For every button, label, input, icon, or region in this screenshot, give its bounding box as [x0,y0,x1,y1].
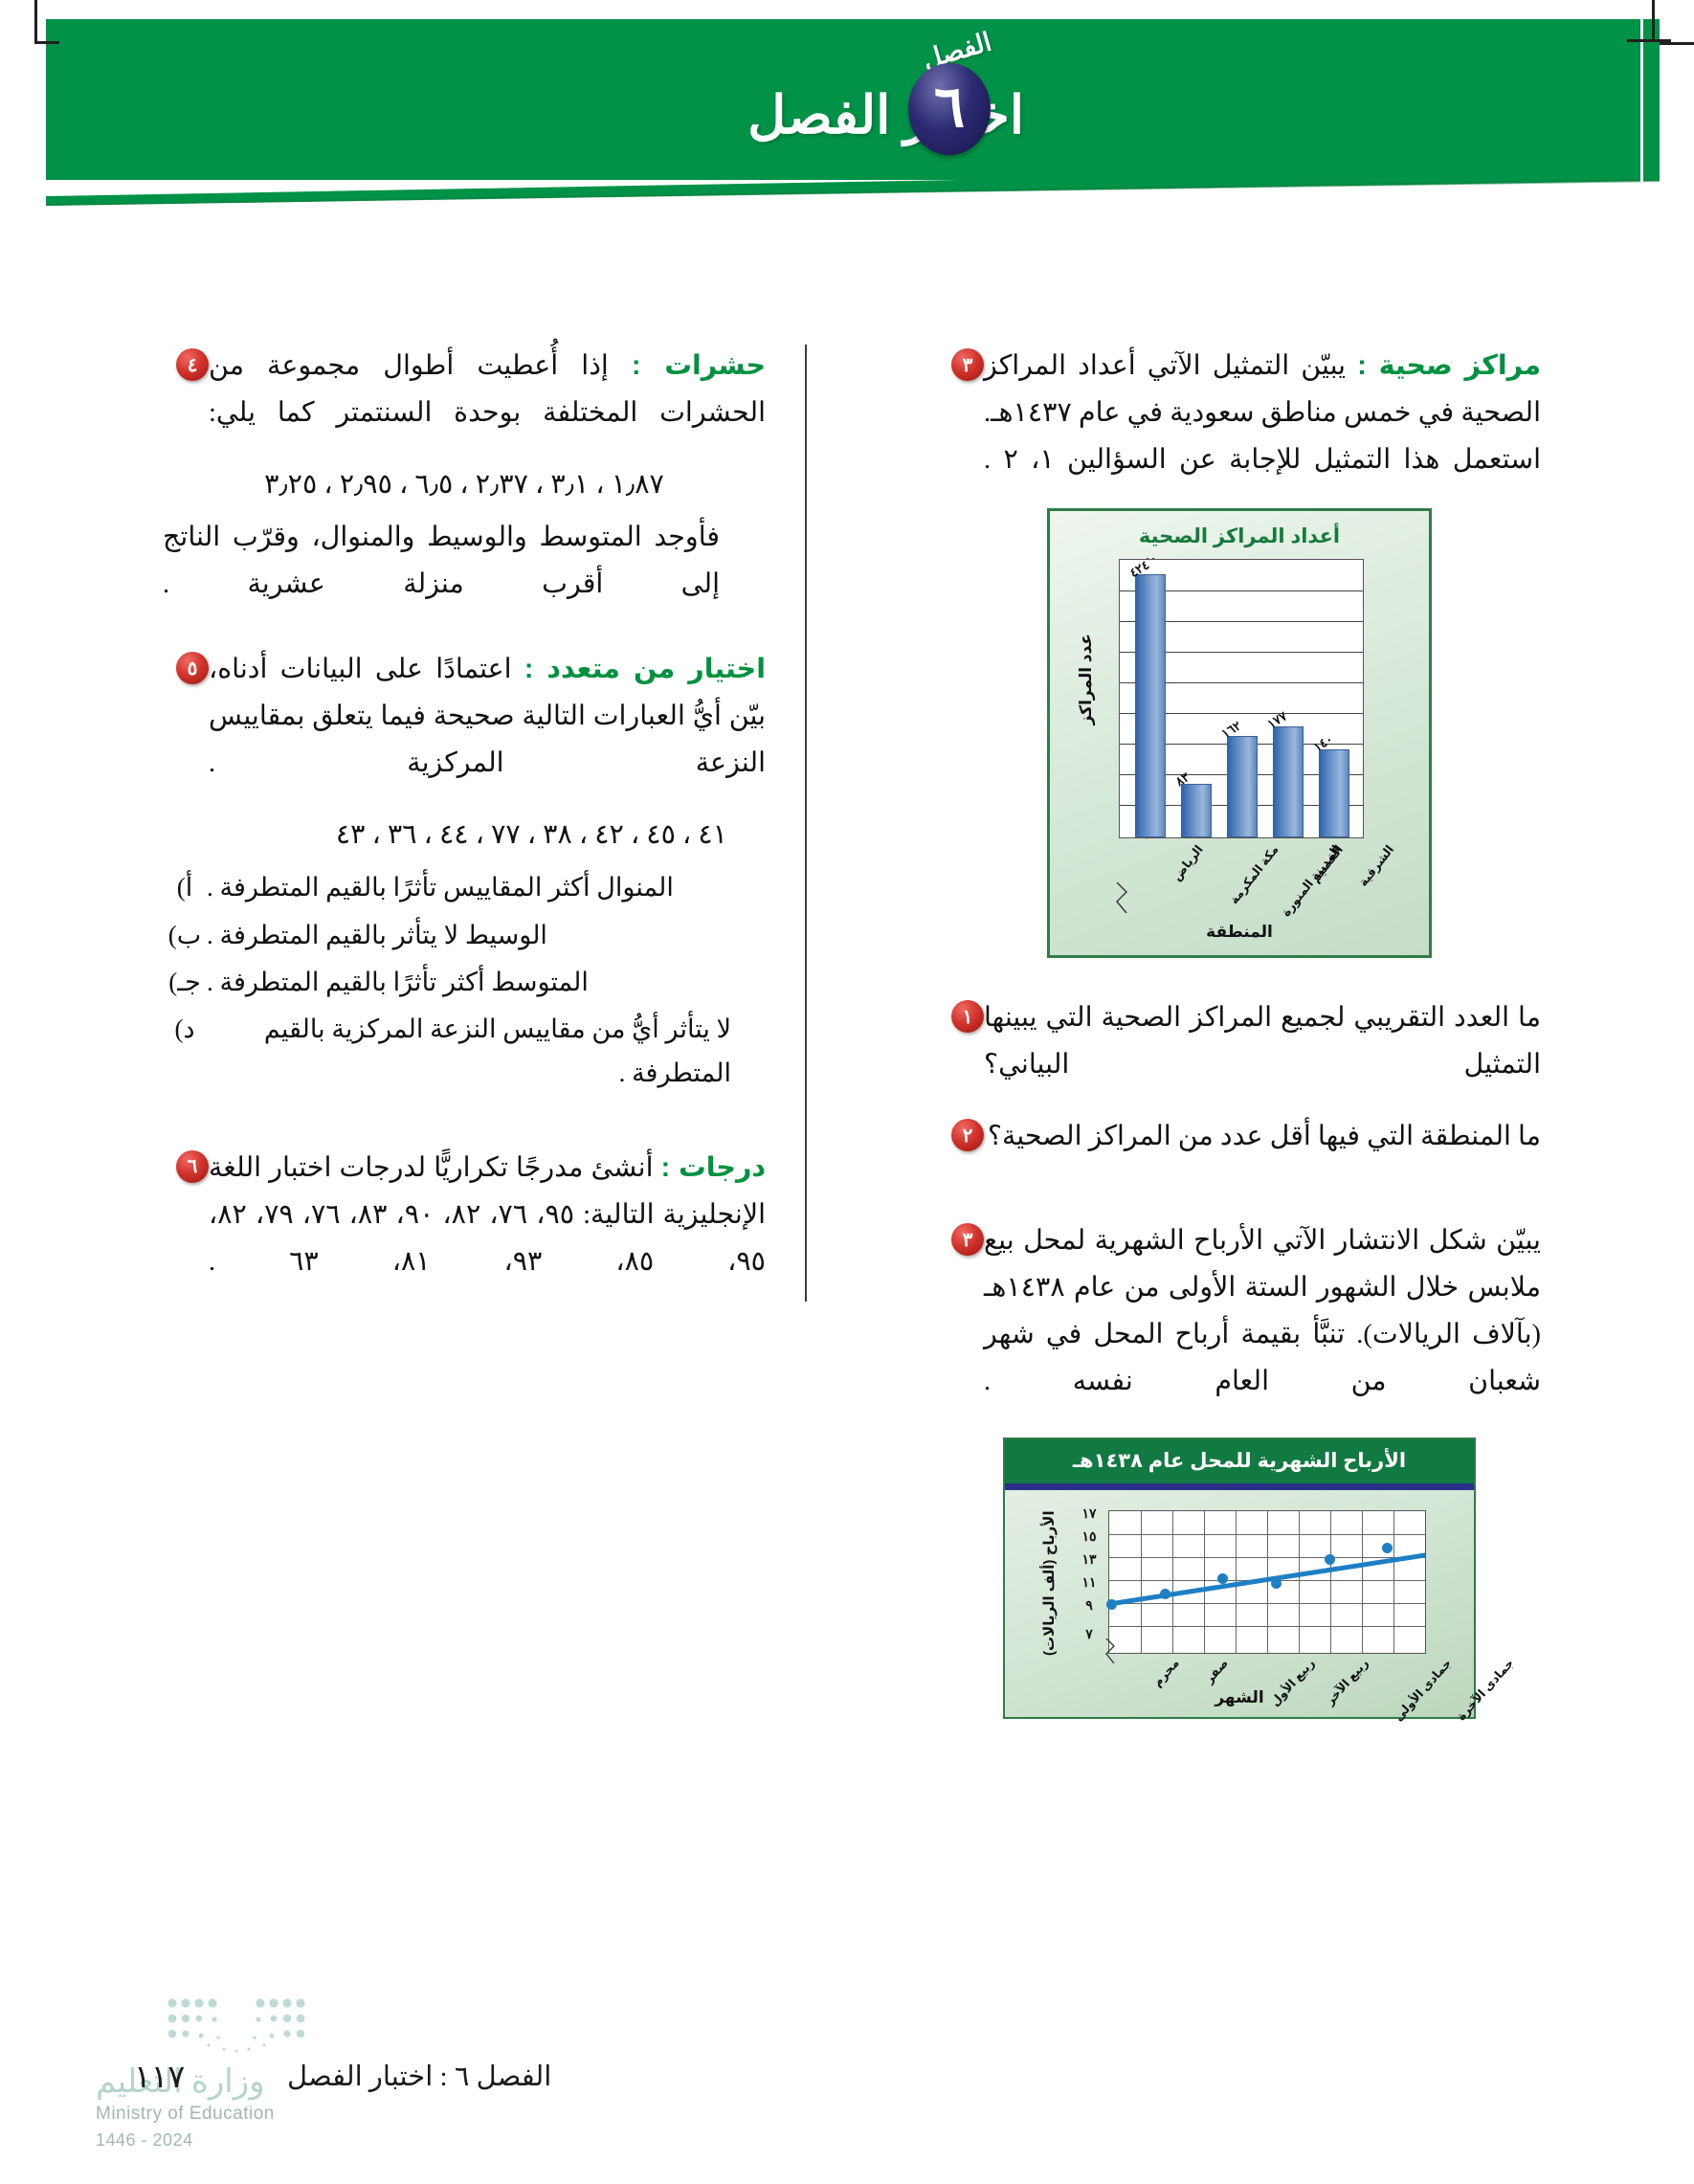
column-divider [805,345,807,1302]
choice-key: جـ) [163,961,207,1004]
bar-xcat-riyadh: الرياض [1170,842,1206,883]
bar-madinah [1227,736,1258,837]
choice-key: د) [163,1008,207,1095]
scatter-ytick-7: ٧ [1076,1627,1103,1643]
bar-riyadh [1135,574,1166,837]
question-health-centers-text: مراكز صحية : يبيّن التمثيل الآتي أعداد ا… [984,343,1541,483]
question-bullet: ٣ [951,348,984,381]
question-bullet: ٤ [176,348,209,381]
ministry-logo-icon [165,1995,308,2057]
bar-axis-break-icon [1115,882,1128,913]
bar-chart-ylabel: عدد المراكز [1077,634,1096,724]
question-1: ١ ما العدد التقريبي لجميع المراكز الصحية… [938,994,1541,1088]
crop-mark-top-right-v [1652,0,1655,42]
question-6: ٦ درجات : أنشئ مدرجًا تكراريًّا لدرجات ا… [163,1145,766,1285]
question-4-text: حشرات : إذا أُعطيت أطوال مجموعة من الحشر… [209,343,766,436]
scatter-chart-plot-area [1108,1510,1426,1654]
choice-key: أ) [163,866,207,909]
question-2: ٢ ما المنطقة التي فيها أقل عدد من المراك… [938,1113,1541,1160]
scatter-trendline [1109,1511,1425,1653]
bar-xcat-eastern: الشرقية [1355,842,1396,889]
question-bullet: ٢ [951,1119,984,1151]
scatter-axis-break-icon [1104,1638,1116,1663]
footer-chapter-text: الفصل ٦ : اختبار الفصل [287,2060,551,2093]
bar-eastern [1319,749,1349,837]
question-label: اختيار من متعدد : [524,654,766,684]
bar-qassim [1273,726,1304,837]
choice-d[interactable]: د) لا يتأثر أيُّ من مقاييس النزعة المركز… [163,1008,731,1095]
scatter-ytick-15: ١٥ [1076,1529,1103,1546]
question-1-text: ما العدد التقريبي لجميع المراكز الصحية ا… [984,994,1541,1088]
question-label: درجات : [661,1152,766,1183]
scatter-ytick-17: ١٧ [1076,1506,1103,1523]
choice-key: ب) [163,914,207,957]
chapter-badge: الفصل ٦ [908,38,991,155]
choice-b[interactable]: ب) الوسيط لا يتأثر بالقيم المتطرفة . [163,914,731,957]
page-number: ١١٧ [134,2058,185,2096]
ministry-watermark-year: 2024 - 1446 [96,2130,193,2151]
scatter-chart-xlabel: الشهر [1005,1688,1474,1707]
choice-c[interactable]: جـ) المتوسط أكثر تأثرًا بالقيم المتطرفة … [163,961,731,1004]
scatter-chart-title: الأرباح الشهرية للمحل عام ١٤٣٨هـ [1005,1439,1474,1483]
scatter-ytick-9: ٩ [1076,1598,1103,1615]
page-left-margin [0,0,46,2184]
question-2-text: ما المنطقة التي فيها أقل عدد من المراكز … [984,1113,1541,1160]
scatter-chart-ylabel: الأرباح (ألف الريالات) [1041,1510,1059,1678]
bar-makkah [1181,784,1212,837]
choice-text: الوسيط لا يتأثر بالقيم المتطرفة . [207,914,547,957]
crop-mark-top-left-h [34,41,59,44]
crop-mark-top-left-v [34,0,37,44]
bar-chart-plot-area: ٤٢٤ ٨٣ ١٦٢ ١٧٧ ١٤٠ [1119,559,1364,838]
question-5-choices: أ) المنوال أكثر المقاييس تأثرًا بالقيم ا… [163,866,766,1095]
crop-mark-right-tab [1660,42,1694,45]
choice-text: لا يتأثر أيُّ من مقاييس النزعة المركزية … [207,1008,731,1095]
question-bullet: ٦ [176,1150,209,1183]
bar-chart-xlabel: المنطقة [1050,923,1429,942]
right-column: ٣ مراكز صحية : يبيّن التمثيل الآتي أعداد… [938,343,1541,1719]
scatter-title-underline [1005,1483,1474,1490]
question-3-text: يبيّن شكل الانتشار الآتي الأرباح الشهرية… [984,1217,1541,1405]
bar-xcat-makkah: مكة المكرمة [1226,842,1281,906]
question-label: حشرات : [632,350,766,381]
question-5-numbers: ٤١ ، ٤٥ ، ٤٢ ، ٣٨ ، ٧٧ ، ٤٤ ، ٣٦ ، ٤٣ [163,812,766,858]
question-bullet: ١ [951,1000,984,1033]
chapter-number: ٦ [908,78,991,136]
ministry-watermark-en: Ministry of Education [96,2104,275,2125]
question-5-text: اختيار من متعدد : اعتمادًا على البيانات … [209,646,766,787]
header-right-divider [1640,19,1643,182]
scatter-xcat-safar: صفر [1202,1656,1231,1685]
left-column: ٤ حشرات : إذا أُعطيت أطوال مجموعة من الح… [163,343,766,1310]
question-bullet: ٣ [951,1223,984,1256]
question-5: ٥ اختيار من متعدد : اعتمادًا على البيانا… [163,646,766,787]
choice-text: المنوال أكثر المقاييس تأثرًا بالقيم المت… [207,866,674,909]
question-4: ٤ حشرات : إذا أُعطيت أطوال مجموعة من الح… [163,343,766,436]
question-label: مراكز صحية : [1357,350,1541,381]
question-3: ٣ يبيّن شكل الانتشار الآتي الأرباح الشهر… [938,1217,1541,1405]
question-6-text: درجات : أنشئ مدرجًا تكراريًّا لدرجات اخت… [209,1145,766,1285]
bar-chart-panel: أعداد المراكز الصحية عدد المراكز ٤٥٠ ٤٠٠… [1047,508,1432,958]
choice-text: المتوسط أكثر تأثرًا بالقيم المتطرفة . [207,961,589,1004]
question-bullet: ٥ [176,652,209,684]
question-4-text-after: فأوجد المتوسط والوسيط والمنوال، وقرّب ال… [163,514,766,608]
scatter-xcat-muharram: محرم [1149,1656,1182,1689]
choice-a[interactable]: أ) المنوال أكثر المقاييس تأثرًا بالقيم ا… [163,866,731,909]
bar-chart-title: أعداد المراكز الصحية [1050,524,1429,548]
question-4-numbers: ١٫٨٧ ، ٣٫١ ، ٢٫٣٧ ، ٦٫٥ ، ٢٫٩٥ ، ٣٫٢٥ [163,461,766,508]
question-health-centers: ٣ مراكز صحية : يبيّن التمثيل الآتي أعداد… [938,343,1541,483]
header-swoosh [46,167,1660,206]
scatter-ytick-13: ١٣ [1076,1552,1103,1569]
scatter-chart-panel: الأرباح الشهرية للمحل عام ١٤٣٨هـ الأرباح… [1003,1437,1476,1719]
scatter-ytick-11: ١١ [1076,1575,1103,1592]
